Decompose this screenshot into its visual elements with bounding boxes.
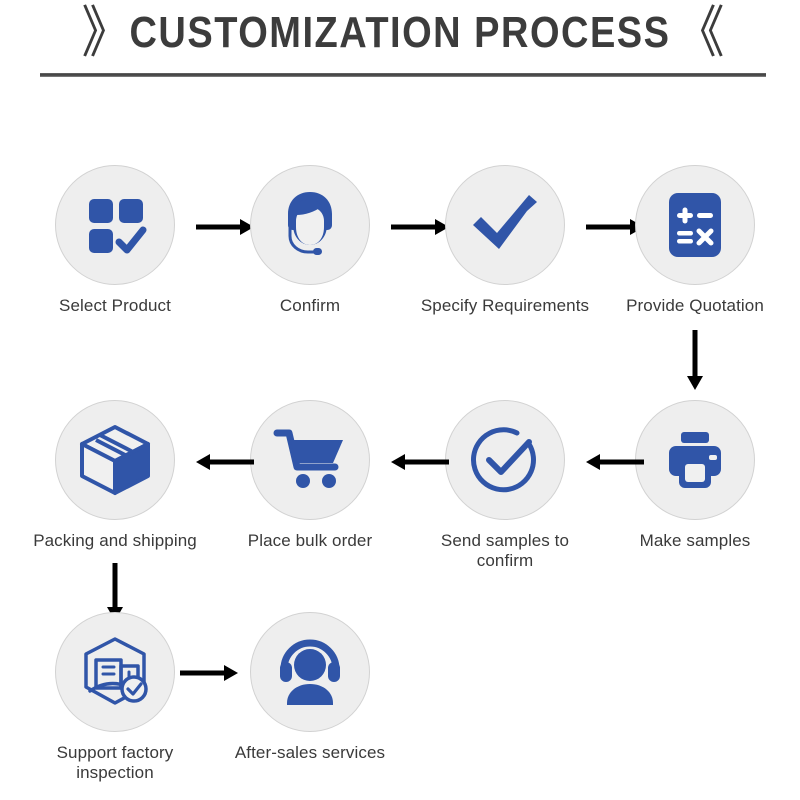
flow-step-label: Make samples bbox=[607, 531, 783, 551]
flow-step-label: Provide Quotation bbox=[607, 296, 783, 316]
package-box-icon bbox=[76, 421, 154, 499]
calculator-icon bbox=[660, 190, 730, 260]
icon-circle bbox=[445, 165, 565, 285]
printer-icon bbox=[659, 424, 731, 496]
flow-step-label: Support factory inspection bbox=[27, 743, 203, 783]
flow-step-label: After-sales services bbox=[222, 743, 398, 763]
flow-step-label: Send samples to confirm bbox=[417, 531, 593, 571]
flow-step-select-product[interactable]: Select Product bbox=[27, 165, 203, 316]
headset-person-icon bbox=[273, 635, 347, 709]
chevron-left-decoration: 》 bbox=[81, 5, 125, 61]
icon-circle bbox=[250, 612, 370, 732]
flow-step-label: Select Product bbox=[27, 296, 203, 316]
connector-arrow-left-2 bbox=[391, 453, 449, 471]
support-agent-icon bbox=[272, 187, 348, 263]
flow-step-label: Specify Requirements bbox=[417, 296, 593, 316]
flow-step-send-samples[interactable]: Send samples to confirm bbox=[417, 400, 593, 571]
checkmark-icon bbox=[467, 187, 543, 263]
icon-circle bbox=[250, 400, 370, 520]
connector-arrow-left-3 bbox=[196, 453, 254, 471]
flow-step-specify-requirements[interactable]: Specify Requirements bbox=[417, 165, 593, 316]
flow-step-place-bulk-order[interactable]: Place bulk order bbox=[222, 400, 398, 551]
title-divider bbox=[40, 73, 766, 77]
shopping-cart-icon bbox=[273, 423, 347, 497]
icon-circle bbox=[55, 400, 175, 520]
connector-arrow-down-1 bbox=[686, 330, 704, 390]
flow-step-label: Packing and shipping bbox=[27, 531, 203, 551]
flow-step-label: Confirm bbox=[222, 296, 398, 316]
flow-step-after-sales[interactable]: After-sales services bbox=[222, 612, 398, 763]
connector-arrow-left-1 bbox=[586, 453, 644, 471]
flow-step-confirm[interactable]: Confirm bbox=[222, 165, 398, 316]
factory-inspection-icon bbox=[76, 633, 154, 711]
grid-check-icon bbox=[79, 189, 151, 261]
page-title: CUSTOMIZATION PROCESS bbox=[125, 11, 674, 55]
icon-circle bbox=[55, 612, 175, 732]
flow-step-make-samples[interactable]: Make samples bbox=[607, 400, 783, 551]
chevron-right-decoration: 《 bbox=[675, 5, 719, 61]
page-header: 》CUSTOMIZATION PROCESS《 bbox=[0, 0, 800, 90]
flow-step-packing-shipping[interactable]: Packing and shipping bbox=[27, 400, 203, 551]
flow-step-label: Place bulk order bbox=[222, 531, 398, 551]
title-row: 》CUSTOMIZATION PROCESS《 bbox=[0, 8, 800, 58]
flow-step-support-inspection[interactable]: Support factory inspection bbox=[27, 612, 203, 783]
icon-circle bbox=[445, 400, 565, 520]
icon-circle bbox=[250, 165, 370, 285]
icon-circle bbox=[635, 400, 755, 520]
icon-circle bbox=[635, 165, 755, 285]
flow-step-provide-quotation[interactable]: Provide Quotation bbox=[607, 165, 783, 316]
icon-circle bbox=[55, 165, 175, 285]
circle-check-icon bbox=[467, 422, 543, 498]
